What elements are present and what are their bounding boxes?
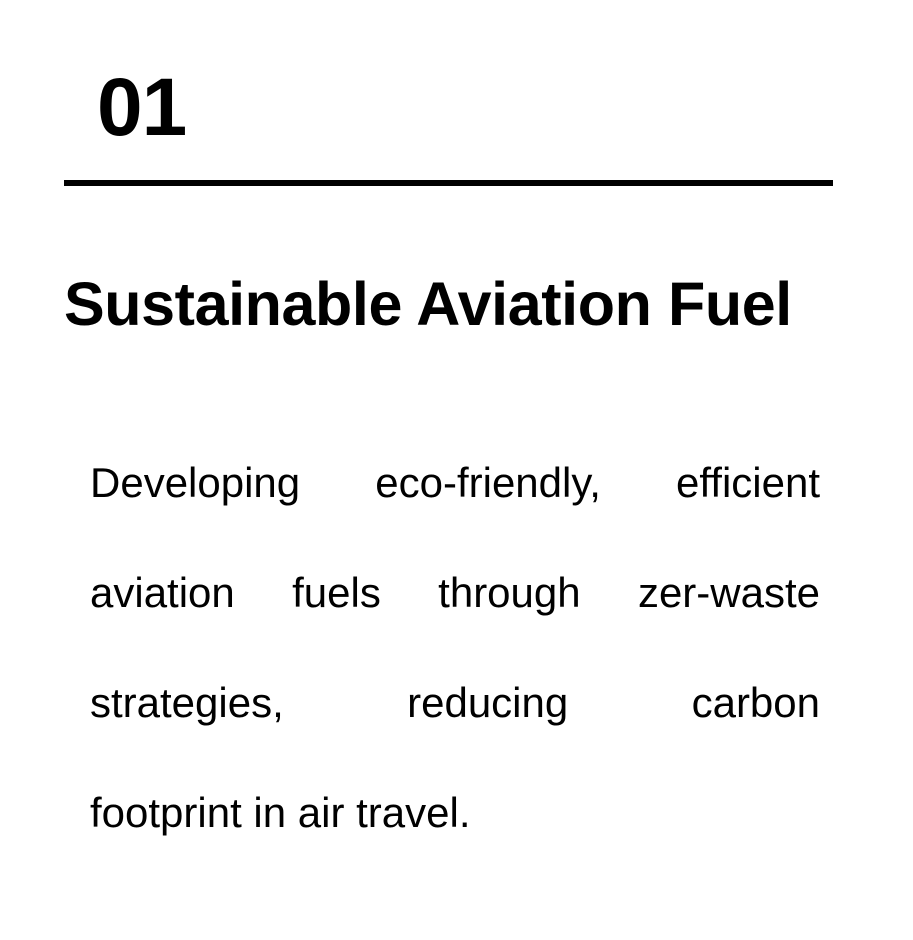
body-line: Developing eco-friendly, efficient [90,455,820,565]
slide-canvas: 01 Sustainable Aviation Fuel Developing … [0,0,913,940]
body-line: strategies, reducing carbon [90,675,820,785]
horizontal-rule-divider [64,180,833,186]
section-body-text: Developing eco-friendly, efficient aviat… [90,455,820,840]
section-number-block: 01 [64,62,834,154]
section-number: 01 [64,62,834,154]
body-line: aviation fuels through zer-waste [90,565,820,675]
page-title: Sustainable Aviation Fuel [64,270,864,338]
body-line: footprint in air travel. [90,785,820,840]
